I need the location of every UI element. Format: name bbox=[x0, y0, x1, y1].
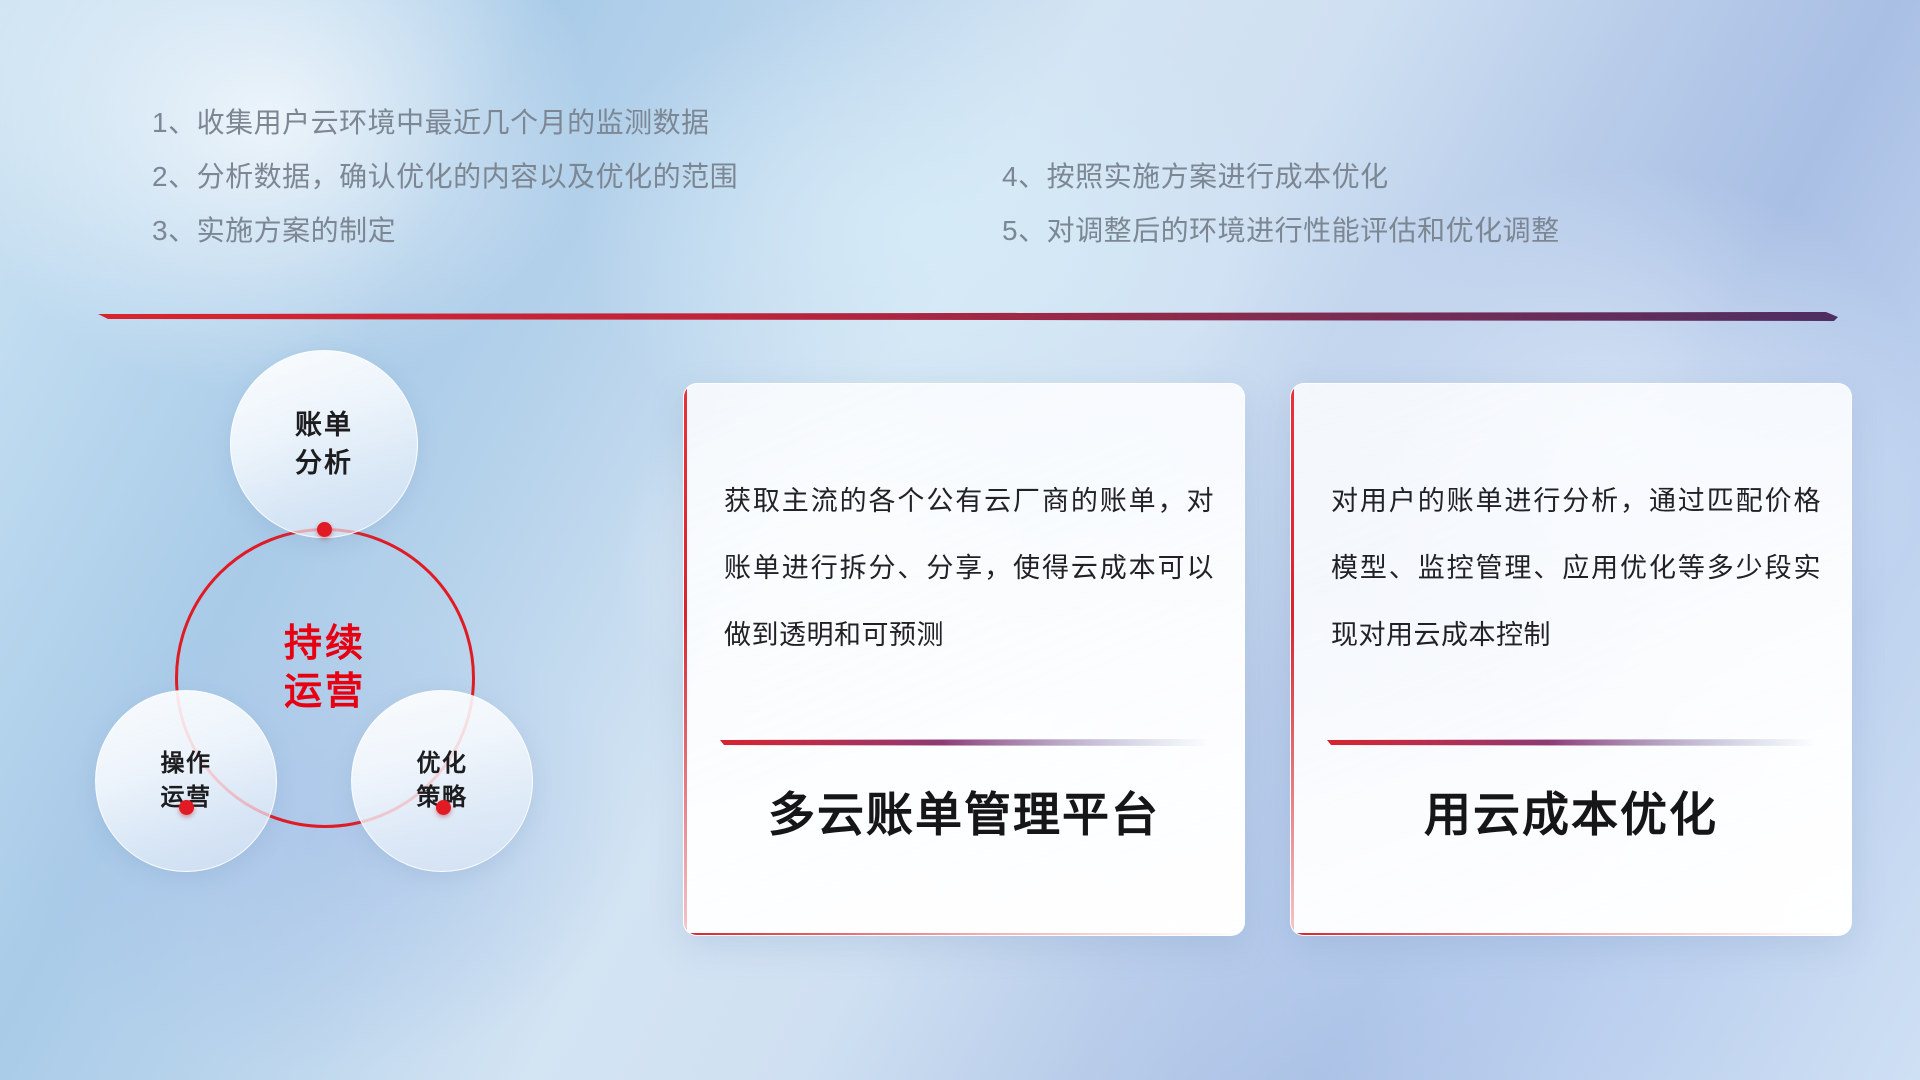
diagram-node-bill-analysis[interactable]: 账单 分析 bbox=[230, 350, 418, 538]
node-label-line2: 分析 bbox=[295, 444, 353, 482]
card-bottom-accent bbox=[684, 933, 1244, 936]
card-title: 用云成本优化 bbox=[1291, 776, 1851, 845]
steps-left-column: 1、收集用户云环境中最近几个月的监测数据 2、分析数据，确认优化的内容以及优化的… bbox=[152, 96, 738, 258]
feature-card-multicloud-billing[interactable]: 获取主流的各个公有云厂商的账单，对账单进行拆分、分享，使得云成本可以做到透明和可… bbox=[683, 383, 1245, 936]
diagram-dot-left bbox=[179, 800, 194, 815]
card-left-accent bbox=[1291, 384, 1294, 935]
step-item-4: 4、按照实施方案进行成本优化 bbox=[1002, 150, 1560, 204]
diagram-center-label: 持续 运营 bbox=[245, 620, 405, 716]
diagram-dot-top bbox=[317, 522, 332, 537]
steps-right-column: 4、按照实施方案进行成本优化 5、对调整后的环境进行性能评估和优化调整 bbox=[1002, 150, 1560, 258]
node-label-line1: 优化 bbox=[417, 747, 468, 781]
card-left-accent bbox=[684, 384, 687, 935]
diagram-node-optimization-strategy[interactable]: 优化 策略 bbox=[351, 690, 533, 872]
card-body-text: 对用户的账单进行分析，通过匹配价格模型、监控管理、应用优化等多少段实现对用云成本… bbox=[1331, 468, 1821, 669]
center-label-line2: 运营 bbox=[245, 668, 405, 716]
slide-canvas: 1、收集用户云环境中最近几个月的监测数据 2、分析数据，确认优化的内容以及优化的… bbox=[0, 0, 1920, 1080]
step-item-2: 2、分析数据，确认优化的内容以及优化的范围 bbox=[152, 150, 738, 204]
node-label-line1: 账单 bbox=[295, 406, 353, 444]
card-underline bbox=[720, 739, 1210, 746]
diagram-node-operations[interactable]: 操作 运营 bbox=[95, 690, 277, 872]
card-title: 多云账单管理平台 bbox=[684, 776, 1244, 845]
cycle-diagram: 账单 分析 操作 运营 优化 策略 持续 运营 bbox=[95, 350, 555, 940]
step-item-5: 5、对调整后的环境进行性能评估和优化调整 bbox=[1002, 204, 1560, 258]
center-label-line1: 持续 bbox=[245, 620, 405, 668]
feature-card-cloud-cost-optimization[interactable]: 对用户的账单进行分析，通过匹配价格模型、监控管理、应用优化等多少段实现对用云成本… bbox=[1290, 383, 1852, 936]
card-bottom-accent bbox=[1291, 933, 1851, 936]
card-body-text: 获取主流的各个公有云厂商的账单，对账单进行拆分、分享，使得云成本可以做到透明和可… bbox=[724, 468, 1214, 669]
step-item-3: 3、实施方案的制定 bbox=[152, 204, 738, 258]
step-item-1: 1、收集用户云环境中最近几个月的监测数据 bbox=[152, 96, 738, 150]
diagram-dot-right bbox=[436, 800, 451, 815]
section-divider bbox=[98, 312, 1838, 321]
node-label-line1: 操作 bbox=[161, 747, 212, 781]
card-underline bbox=[1327, 739, 1817, 746]
